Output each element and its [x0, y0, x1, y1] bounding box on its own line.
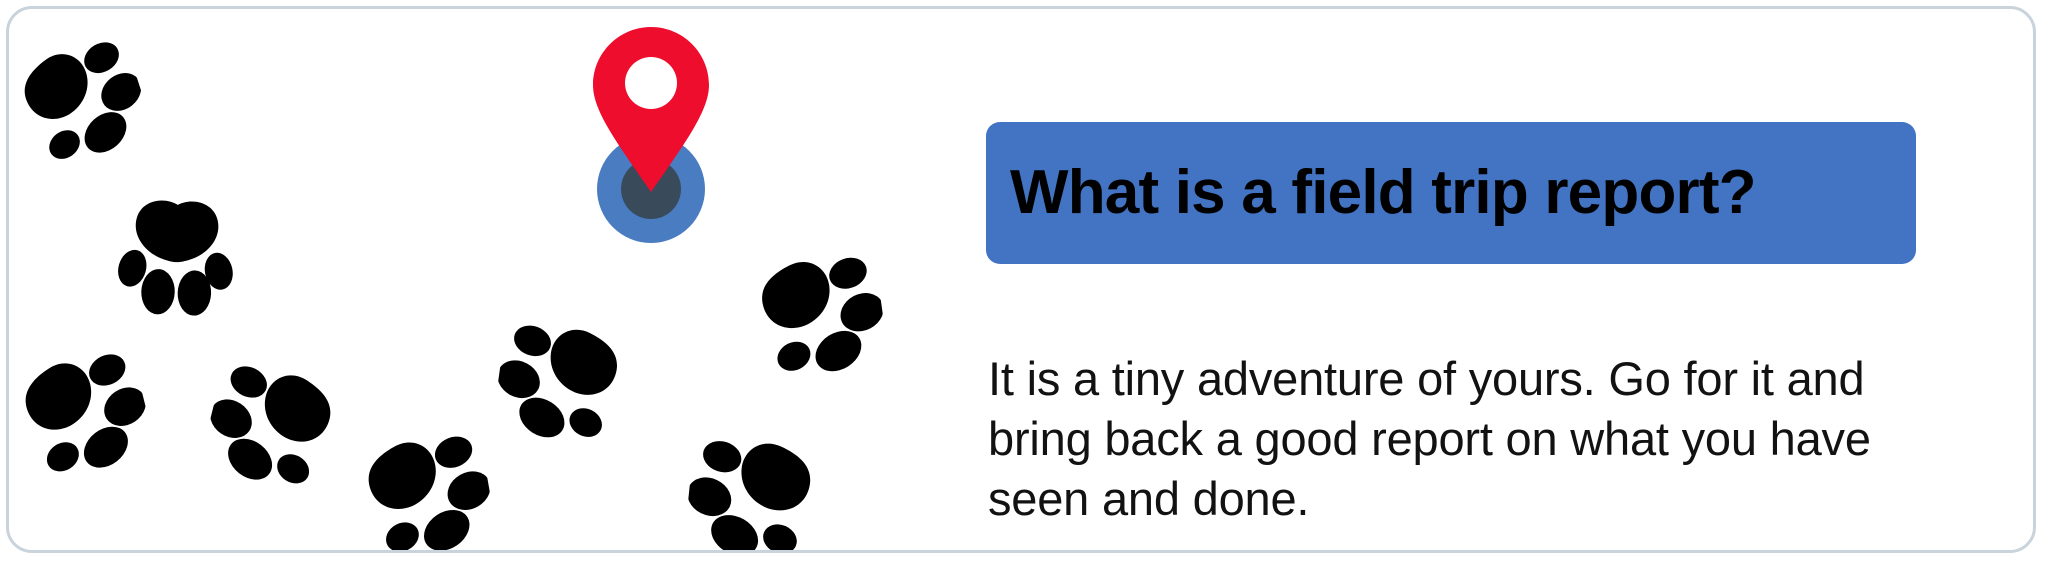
- paw-print-6-icon: [491, 309, 633, 451]
- content-panel: What is a field trip report? It is a tin…: [975, 9, 2036, 553]
- paw-print-8-icon: [746, 241, 891, 386]
- field-trip-report-card: What is a field trip report? It is a tin…: [6, 6, 2036, 553]
- paw-print-2-icon: [115, 195, 237, 317]
- page-title: What is a field trip report?: [1010, 160, 1756, 225]
- paw-print-4-icon: [198, 348, 351, 501]
- heading-banner: What is a field trip report?: [986, 122, 1916, 264]
- paw-print-5-icon: [351, 419, 499, 553]
- paw-print-7-icon: [683, 425, 826, 553]
- body-paragraph: It is a tiny adventure of yours. Go for …: [988, 349, 1948, 529]
- illustration-panel: [9, 9, 969, 553]
- paw-print-3-icon: [6, 336, 158, 489]
- map-pin-teardrop-icon: [593, 27, 709, 192]
- paw-print-1-icon: [6, 23, 157, 177]
- map-pin-marker: [565, 27, 735, 247]
